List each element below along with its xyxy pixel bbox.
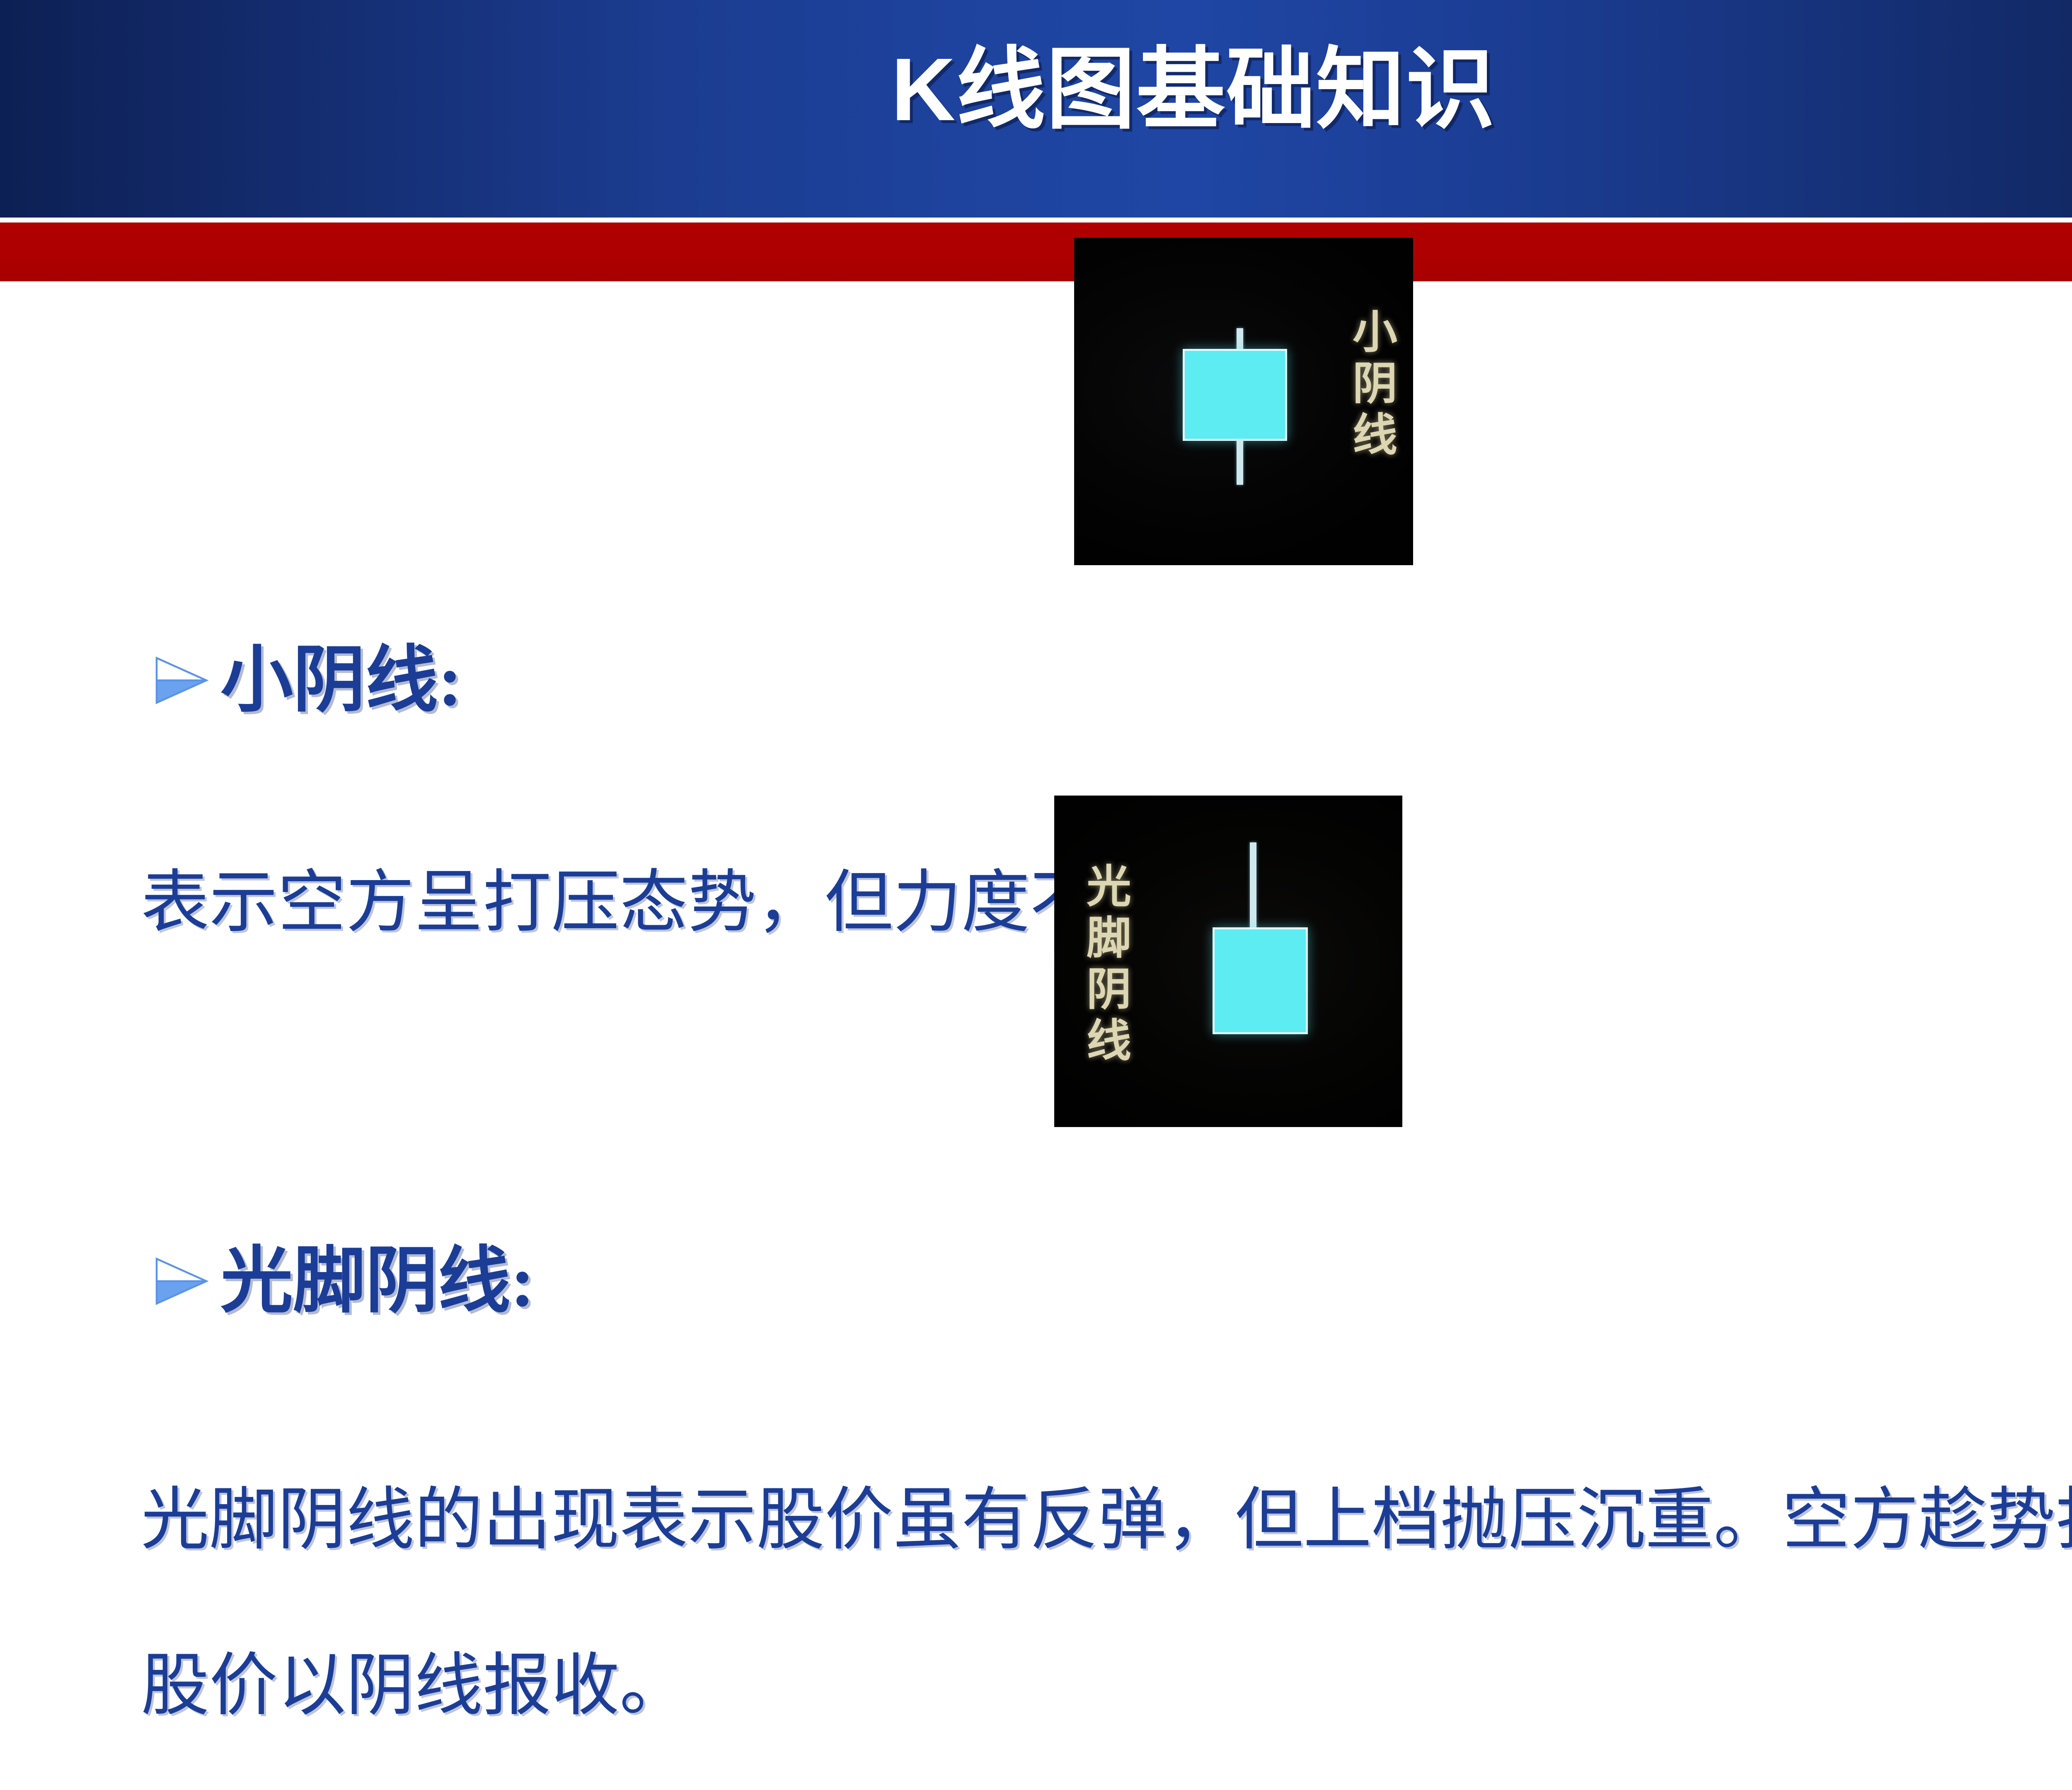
- bullet-label-1: 小阴线:: [220, 641, 462, 720]
- arrow-bullet-icon: [149, 1250, 211, 1312]
- candle-caption-2: 光脚阴线: [1080, 863, 1129, 1068]
- candle-lower-wick: [1237, 439, 1243, 485]
- candle-upper-wick: [1237, 328, 1243, 350]
- body-paragraph-2: 光脚阴线的出现表示股价虽有反弹，但上档抛压沉重。空方趁势打压使股价以阴线报收。: [141, 1437, 2072, 1769]
- slide-header-band: K线图基础知识: [0, 0, 2072, 218]
- bullet-heading-1: 小阴线:: [149, 641, 462, 720]
- header-accent-rule: [0, 223, 2072, 281]
- candlestick-figure-small-bearish: 小阴线: [1074, 238, 1413, 565]
- bullet-heading-2: 光脚阴线:: [149, 1242, 535, 1321]
- candle-caption-1: 小阴线: [1346, 308, 1395, 462]
- candle-upper-wick: [1250, 842, 1256, 929]
- candlestick-figure-barefoot-bearish: 光脚阴线: [1054, 796, 1402, 1127]
- arrow-bullet-icon: [149, 649, 211, 711]
- bullet-label-2: 光脚阴线:: [220, 1242, 535, 1321]
- candle-body: [1183, 349, 1287, 441]
- slide-content: 小阴线: 表示空方呈打压态势，但力度不大。 光脚阴线: 光脚阴线的出现表示股价虽…: [0, 281, 2072, 1790]
- page-title: K线图基础知识: [0, 41, 2072, 138]
- candle-body: [1213, 927, 1308, 1034]
